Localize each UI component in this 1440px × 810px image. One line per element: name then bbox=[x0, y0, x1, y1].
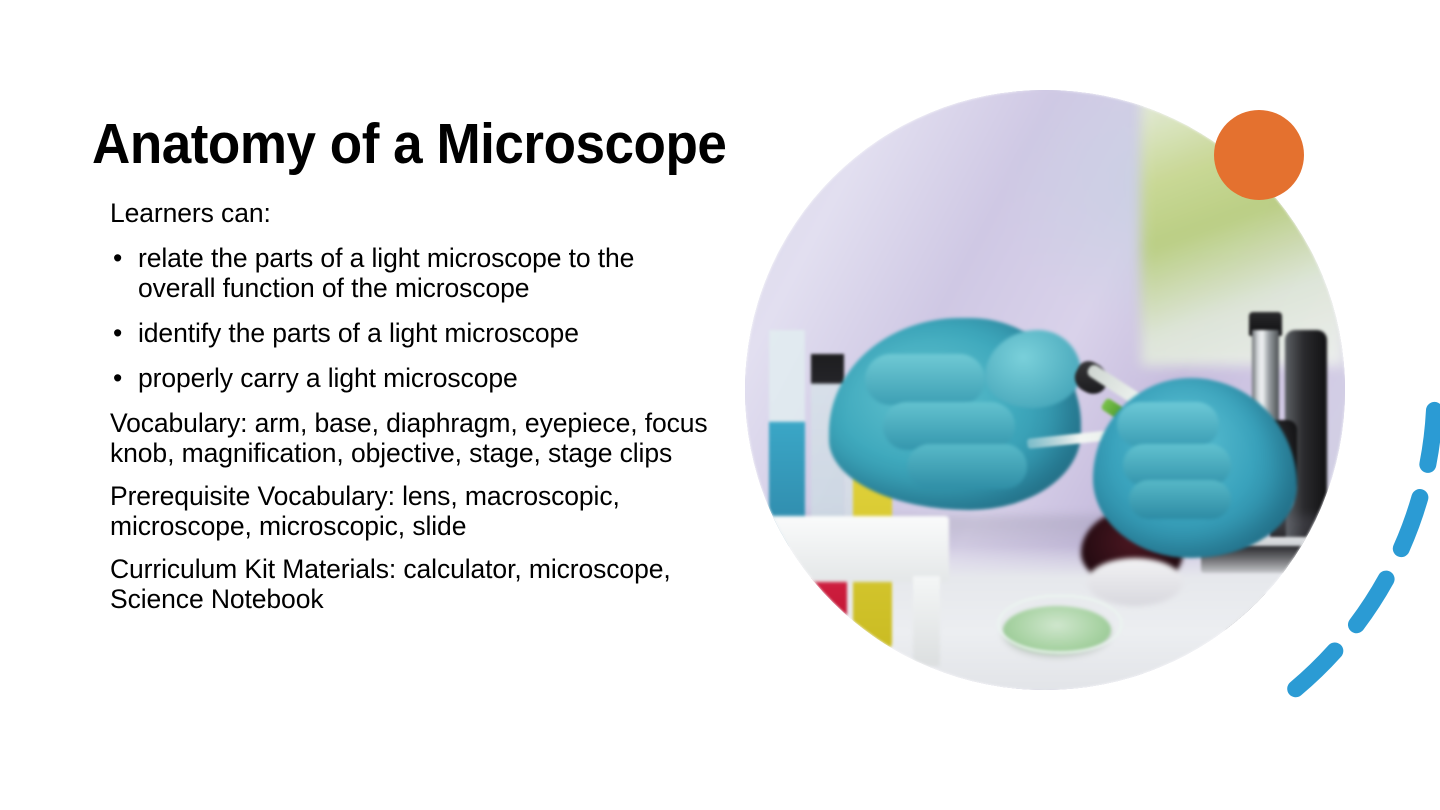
lead-in-text: Learners can: bbox=[110, 198, 710, 228]
bullet-icon: • bbox=[113, 363, 122, 393]
list-item-label: properly carry a light microscope bbox=[138, 363, 518, 393]
prerequisite-vocabulary-text: Prerequisite Vocabulary: lens, macroscop… bbox=[110, 481, 710, 541]
list-item: • properly carry a light microscope bbox=[110, 363, 710, 393]
vocabulary-text: Vocabulary: arm, base, diaphragm, eyepie… bbox=[110, 408, 710, 468]
arc-dash bbox=[1356, 579, 1386, 625]
list-item: • relate the parts of a light microscope… bbox=[110, 243, 710, 303]
dashed-arc-accent bbox=[1030, 460, 1430, 760]
page-title: Anatomy of a Microscope bbox=[92, 112, 669, 176]
text-column: Anatomy of a Microscope Learners can: • … bbox=[92, 112, 712, 627]
body-content: Learners can: • relate the parts of a li… bbox=[110, 198, 710, 614]
list-item: • identify the parts of a light microsco… bbox=[110, 318, 710, 348]
curriculum-kit-materials-text: Curriculum Kit Materials: calculator, mi… bbox=[110, 554, 710, 614]
orange-circle-accent bbox=[1214, 110, 1304, 200]
list-item-label: relate the parts of a light microscope t… bbox=[138, 243, 634, 303]
arc-dash bbox=[1401, 498, 1420, 549]
bullet-icon: • bbox=[113, 243, 122, 273]
arc-dash bbox=[1428, 410, 1435, 464]
arc-dash bbox=[1296, 651, 1335, 689]
slide-canvas: Anatomy of a Microscope Learners can: • … bbox=[0, 0, 1440, 810]
objectives-list: • relate the parts of a light microscope… bbox=[110, 243, 710, 393]
list-item-label: identify the parts of a light microscope bbox=[138, 318, 579, 348]
bullet-icon: • bbox=[113, 318, 122, 348]
